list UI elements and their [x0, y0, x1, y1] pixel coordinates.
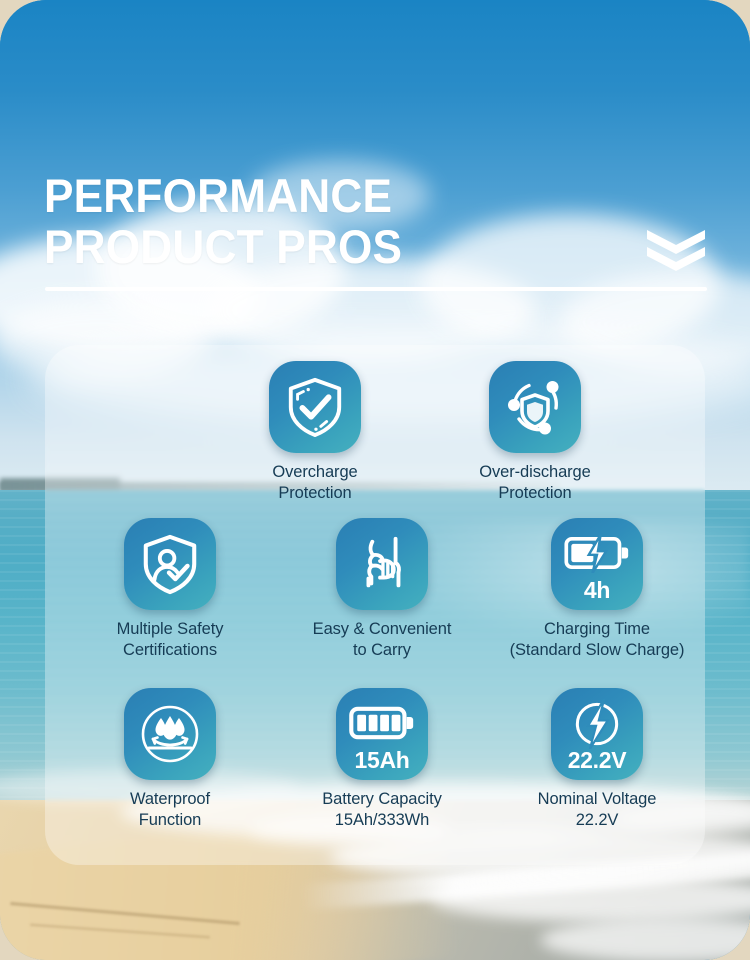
shield-person-check-icon	[139, 533, 201, 595]
feature-caption: Battery Capacity 15Ah/333Wh	[282, 789, 482, 830]
title-divider	[45, 287, 707, 291]
feature-item-overcharge-protection[interactable]: Overcharge Protection	[215, 361, 415, 503]
feature-icon-tile: 4h	[551, 518, 643, 610]
feature-item-charging-time[interactable]: 4h Charging Time (Standard Slow Charge)	[497, 518, 697, 660]
feature-item-multiple-safety-certifications[interactable]: Multiple Safety Certifications	[70, 518, 270, 660]
double-chevron-down-icon	[645, 228, 707, 272]
product-feature-poster: PERFORMANCE PRODUCT PROS O	[0, 0, 750, 960]
feature-caption: Multiple Safety Certifications	[70, 619, 270, 660]
feature-caption: Waterproof Function	[70, 789, 270, 830]
feature-item-easy-to-carry[interactable]: Easy & Convenient to Carry	[282, 518, 482, 660]
title-line-1: PERFORMANCE	[44, 170, 608, 221]
feature-caption: Nominal Voltage 22.2V	[497, 789, 697, 830]
page-title: PERFORMANCE PRODUCT PROS	[44, 170, 608, 272]
feature-value: 15Ah	[336, 747, 428, 774]
feature-icon-tile: 15Ah	[336, 688, 428, 780]
feature-value: 4h	[551, 577, 643, 604]
feature-caption: Charging Time (Standard Slow Charge)	[497, 619, 697, 660]
feature-icon-tile	[489, 361, 581, 453]
shield-orbit-icon	[503, 375, 567, 439]
feature-icon-tile	[269, 361, 361, 453]
feature-item-over-discharge-protection[interactable]: Over-discharge Protection	[435, 361, 635, 503]
title-line-2: PRODUCT PROS	[44, 221, 608, 272]
feature-value: 22.2V	[551, 747, 643, 774]
feature-caption: Easy & Convenient to Carry	[282, 619, 482, 660]
feature-item-battery-capacity[interactable]: 15Ah Battery Capacity 15Ah/333Wh	[282, 688, 482, 830]
feature-icon-tile	[336, 518, 428, 610]
feature-grid: Overcharge Protection Over-discharge Pro…	[45, 345, 705, 865]
feature-caption: Over-discharge Protection	[435, 462, 635, 503]
feature-item-nominal-voltage[interactable]: 22.2V Nominal Voltage 22.2V	[497, 688, 697, 830]
battery-charging-bolt-icon	[564, 533, 630, 573]
feature-icon-tile	[124, 688, 216, 780]
feature-icon-tile: 22.2V	[551, 688, 643, 780]
shield-check-icon	[284, 376, 346, 438]
feature-item-waterproof-function[interactable]: Waterproof Function	[70, 688, 270, 830]
feature-icon-tile	[124, 518, 216, 610]
battery-full-icon	[349, 704, 415, 742]
voltage-bolt-circle-icon	[572, 699, 622, 749]
hand-grip-icon	[351, 533, 413, 595]
waterproof-droplet-icon	[138, 702, 202, 766]
feature-caption: Overcharge Protection	[215, 462, 415, 503]
